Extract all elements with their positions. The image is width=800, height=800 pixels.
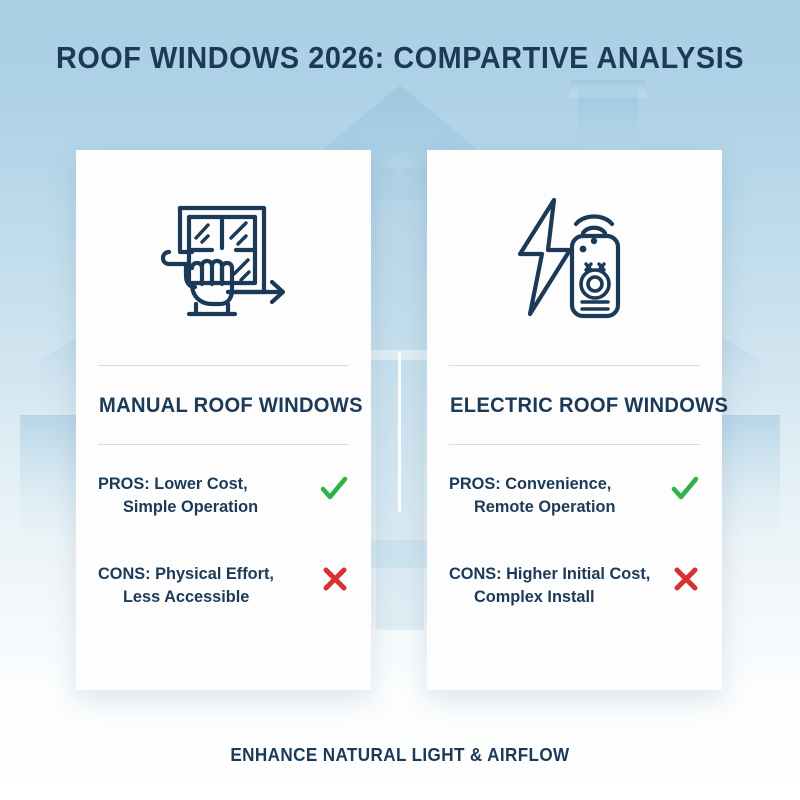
pros-text: PROS: Convenience, Remote Operation xyxy=(449,473,615,519)
cons-line2: Less Accessible xyxy=(98,586,274,609)
card-icon-zone xyxy=(76,150,371,365)
card-title-electric: ELECTRIC ROOF WINDOWS xyxy=(427,366,710,444)
pros-row: PROS: Convenience, Remote Operation xyxy=(449,473,700,519)
check-icon xyxy=(670,475,700,507)
pros-row: PROS: Lower Cost, Simple Operation xyxy=(98,473,349,519)
comparison-card-electric: ELECTRIC ROOF WINDOWS PROS: Convenience,… xyxy=(427,150,722,690)
pros-label: PROS: xyxy=(98,474,154,493)
center-divider xyxy=(398,352,401,512)
page-title: ROOF WINDOWS 2026: COMPARTIVE ANALYSIS xyxy=(28,40,772,76)
lightning-remote-icon xyxy=(512,192,638,324)
cons-line1: Physical Effort, xyxy=(155,564,274,583)
card-rows-electric: PROS: Convenience, Remote Operation CONS… xyxy=(427,445,722,609)
pros-label: PROS: xyxy=(449,474,505,493)
footer-tagline: ENHANCE NATURAL LIGHT & AIRFLOW xyxy=(20,745,780,766)
cons-label: CONS: xyxy=(98,564,155,583)
infographic-canvas: ROOF WINDOWS 2026: COMPARTIVE ANALYSIS xyxy=(0,0,800,800)
card-title-manual: MANUAL ROOF WINDOWS xyxy=(76,366,359,444)
pros-line2: Remote Operation xyxy=(449,496,615,519)
comparison-card-manual: MANUAL ROOF WINDOWS PROS: Lower Cost, Si… xyxy=(76,150,371,690)
pros-line2: Simple Operation xyxy=(98,496,258,519)
card-rows-manual: PROS: Lower Cost, Simple Operation CONS:… xyxy=(76,445,371,609)
cons-line2: Complex Install xyxy=(449,586,650,609)
pros-line1: Convenience, xyxy=(505,474,611,493)
cons-row: CONS: Higher Initial Cost, Complex Insta… xyxy=(449,563,700,609)
pros-text: PROS: Lower Cost, Simple Operation xyxy=(98,473,258,519)
cons-label: CONS: xyxy=(449,564,506,583)
cons-text: CONS: Physical Effort, Less Accessible xyxy=(98,563,274,609)
check-icon xyxy=(319,475,349,507)
hand-window-icon xyxy=(156,192,292,324)
cons-line1: Higher Initial Cost, xyxy=(506,564,650,583)
cons-row: CONS: Physical Effort, Less Accessible xyxy=(98,563,349,609)
cross-icon xyxy=(672,565,700,597)
cross-icon xyxy=(321,565,349,597)
cons-text: CONS: Higher Initial Cost, Complex Insta… xyxy=(449,563,650,609)
card-icon-zone xyxy=(427,150,722,365)
pros-line1: Lower Cost, xyxy=(154,474,247,493)
